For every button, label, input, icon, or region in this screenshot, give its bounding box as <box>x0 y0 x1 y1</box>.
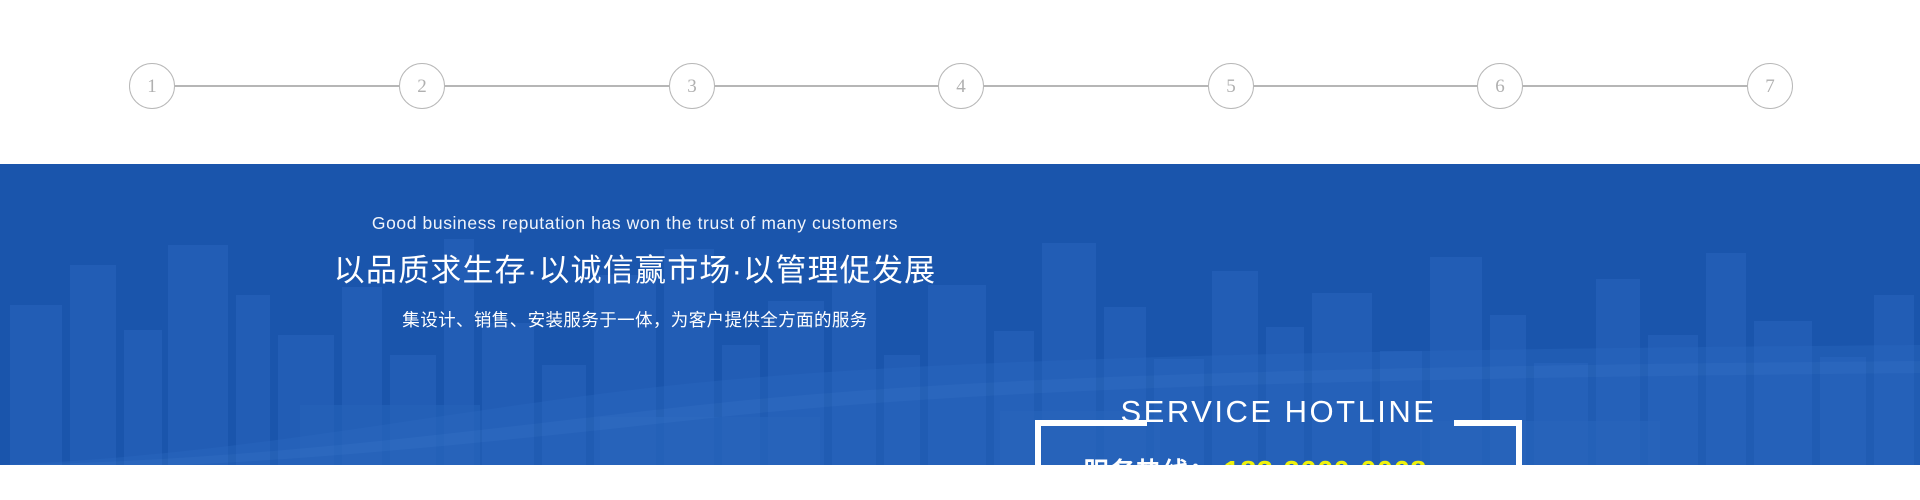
step-label-4: 4 <box>956 77 966 96</box>
hotline-title: SERVICE HOTLINE <box>1035 396 1522 427</box>
step-label-6: 6 <box>1495 77 1505 96</box>
hotline-number-primary[interactable]: 183-2660-0068 <box>1224 456 1427 465</box>
step-circle-5[interactable]: 5 <box>1208 63 1254 109</box>
promo-banner: Good business reputation has won the tru… <box>0 164 1920 465</box>
step-circle-4[interactable]: 4 <box>938 63 984 109</box>
step-label-7: 7 <box>1765 77 1775 96</box>
step-circle-6[interactable]: 6 <box>1477 63 1523 109</box>
hotline-row-primary: 服务热线： 183-2660-0068 <box>1035 452 1522 465</box>
hotline-label: 服务热线： <box>1083 452 1216 465</box>
page-root: 1 2 3 4 5 6 7 <box>0 0 1920 500</box>
step-label-2: 2 <box>417 77 427 96</box>
step-circle-1[interactable]: 1 <box>129 63 175 109</box>
step-label-5: 5 <box>1226 77 1236 96</box>
step-indicator: 1 2 3 4 5 6 7 <box>0 0 1920 164</box>
step-circle-3[interactable]: 3 <box>669 63 715 109</box>
slogan-chinese-sub: 集设计、销售、安装服务于一体，为客户提供全方面的服务 <box>300 309 970 332</box>
step-circle-7[interactable]: 7 <box>1747 63 1793 109</box>
step-label-1: 1 <box>147 77 157 96</box>
step-circle-2[interactable]: 2 <box>399 63 445 109</box>
slogan-english: Good business reputation has won the tru… <box>300 212 970 235</box>
hotline-numbers: 服务热线： 183-2660-0068 0551-63749777 <box>1035 452 1522 465</box>
slogan-chinese-main: 以品质求生存·以诚信赢市场·以管理促发展 <box>300 252 970 291</box>
service-hotline-box: SERVICE HOTLINE 服务热线： 183-2660-0068 0551… <box>1035 410 1522 465</box>
step-label-3: 3 <box>687 77 697 96</box>
slogan-block: Good business reputation has won the tru… <box>300 212 970 331</box>
